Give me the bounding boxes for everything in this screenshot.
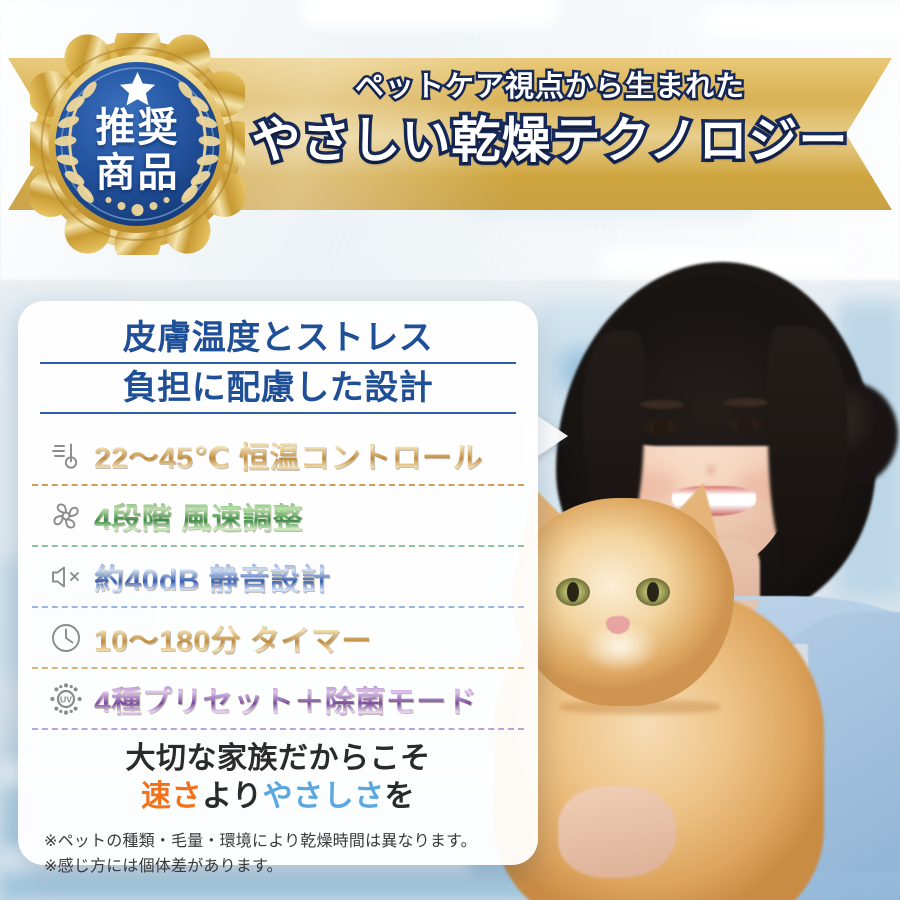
feature-row-timer: 10〜180分 タイマー — [18, 608, 538, 667]
ribbon-title: やさしい乾燥テクノロジー — [250, 110, 850, 172]
note-line-1: ※ペットの種類・毛量・環境により乾燥時間は異なります。 — [44, 829, 538, 854]
feature-row-temperature: 22〜45℃ 恒温コントロール — [18, 425, 538, 484]
feature-row-fanspeed: 4段階 風速調整 — [18, 486, 538, 545]
badge-label-line2: 商品 — [96, 151, 180, 196]
uv-sun-icon: UV — [44, 682, 88, 716]
closing-message: 大切な家族だからこそ 速さよりやさしさを — [18, 740, 538, 816]
ceiling-light-2 — [700, 8, 900, 38]
feature-text-presets: 4種プリセット＋除菌モード — [94, 677, 477, 721]
feature-card: 皮膚温度とストレス 負担に配慮した設計 22〜45℃ 恒温コントロール — [18, 301, 538, 865]
person-pupil-right — [737, 417, 753, 433]
person-brow-right — [724, 398, 768, 407]
feature-list: 22〜45℃ 恒温コントロール 4段階 風速調整 — [18, 425, 538, 730]
closing-wo: を — [384, 780, 415, 813]
feature-text-quiet: 約40dB 静音設計 — [94, 555, 331, 599]
card-heading: 皮膚温度とストレス 負担に配慮した設計 — [18, 301, 538, 414]
fan-icon — [44, 499, 88, 533]
feature-text-fanspeed: 4段階 風速調整 — [94, 494, 303, 538]
closing-line-1: 大切な家族だからこそ — [18, 740, 538, 778]
feature-text-temperature: 22〜45℃ 恒温コントロール — [94, 433, 483, 477]
card-heading-line2: 負担に配慮した設計 — [40, 367, 516, 414]
person-pupil-left — [653, 419, 669, 435]
ribbon-text-block: ペットケア視点から生まれた やさしい乾燥テクノロジー — [250, 66, 850, 172]
svg-text:UV: UV — [60, 694, 72, 704]
mute-speaker-icon — [44, 560, 88, 594]
cat-pupil-left — [567, 582, 579, 602]
card-heading-line1: 皮膚温度とストレス — [40, 317, 516, 364]
person-hand-holding-cat — [558, 786, 676, 878]
cat-pupil-right — [647, 582, 659, 602]
disclaimer-notes: ※ペットの種類・毛量・環境により乾燥時間は異なります。 ※感じ方には個体差があり… — [18, 829, 538, 879]
person-nose — [700, 452, 722, 478]
feature-row-quiet: 約40dB 静音設計 — [18, 547, 538, 606]
closing-speed: 速さ — [141, 780, 202, 813]
recommended-product-badge: 推奨 商品 — [30, 33, 245, 255]
ribbon-subtitle: ペットケア視点から生まれた — [250, 66, 850, 108]
badge-label-line1: 推奨 — [96, 106, 180, 151]
feature-row-presets: UV 4種プリセット＋除菌モード — [18, 669, 538, 728]
thermometer-icon — [44, 438, 88, 472]
badge-label: 推奨 商品 — [30, 33, 245, 255]
closing-line-2: 速さよりやさしさを — [18, 778, 538, 816]
person-brow-left — [640, 400, 684, 409]
note-line-2: ※感じ方には個体差があります。 — [44, 854, 538, 879]
closing-gentle: やさしさ — [262, 780, 384, 813]
ceiling-light-1 — [300, 0, 560, 28]
clock-icon — [44, 621, 88, 655]
feature-divider-5 — [32, 728, 524, 730]
closing-yori: より — [202, 780, 262, 813]
feature-text-timer: 10〜180分 タイマー — [94, 616, 372, 660]
